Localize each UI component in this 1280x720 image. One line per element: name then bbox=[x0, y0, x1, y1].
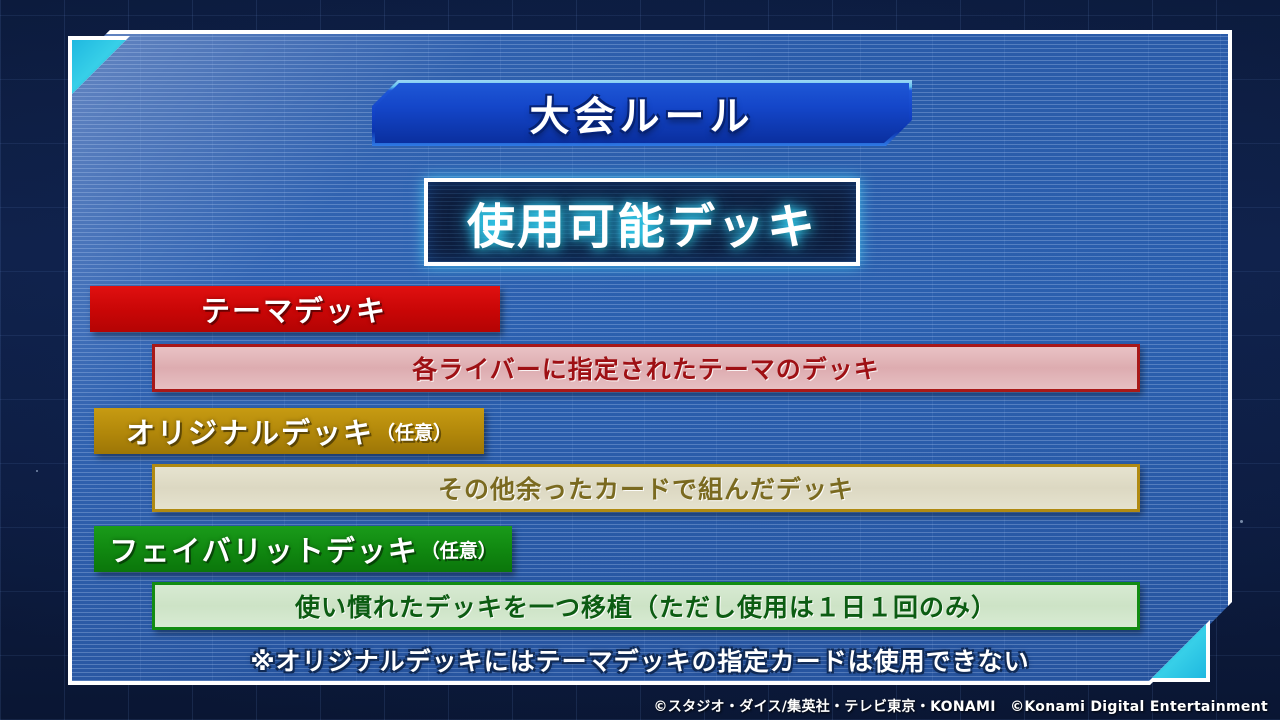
deck-label-favorite-sub: （任意） bbox=[421, 536, 497, 563]
deck-description-theme: 各ライバーに指定されたテーマのデッキ bbox=[152, 344, 1140, 392]
deck-label-theme-main: テーマデッキ bbox=[201, 288, 387, 330]
deck-description-original: その他余ったカードで組んだデッキ bbox=[152, 464, 1140, 512]
slide-background: 大会ルール 使用可能デッキ テーマデッキ 各ライバーに指定されたテーマのデッキ … bbox=[0, 0, 1280, 720]
title-banner: 大会ルール bbox=[372, 80, 912, 146]
subtitle-box: 使用可能デッキ bbox=[424, 178, 860, 266]
footnote-text: ※オリジナルデッキにはテーマデッキの指定カードは使用できない bbox=[0, 642, 1280, 678]
deck-description-favorite: 使い慣れたデッキを一つ移植（ただし使用は１日１回のみ） bbox=[152, 582, 1140, 630]
speck bbox=[36, 470, 38, 472]
speck bbox=[1240, 520, 1243, 523]
deck-label-original: オリジナルデッキ （任意） bbox=[94, 408, 484, 454]
deck-label-original-main: オリジナルデッキ bbox=[126, 410, 374, 452]
deck-label-original-sub: （任意） bbox=[376, 418, 452, 445]
deck-label-theme: テーマデッキ bbox=[90, 286, 500, 332]
subtitle-text: 使用可能デッキ bbox=[467, 187, 817, 257]
corner-triangle-top-left-icon bbox=[72, 40, 126, 94]
deck-label-favorite: フェイバリットデッキ （任意） bbox=[94, 526, 512, 572]
deck-label-favorite-main: フェイバリットデッキ bbox=[109, 528, 418, 570]
copyright-text: ©スタジオ・ダイス/集英社・テレビ東京・KONAMI ©Konami Digit… bbox=[653, 696, 1268, 716]
page-title: 大会ルール bbox=[372, 80, 912, 146]
